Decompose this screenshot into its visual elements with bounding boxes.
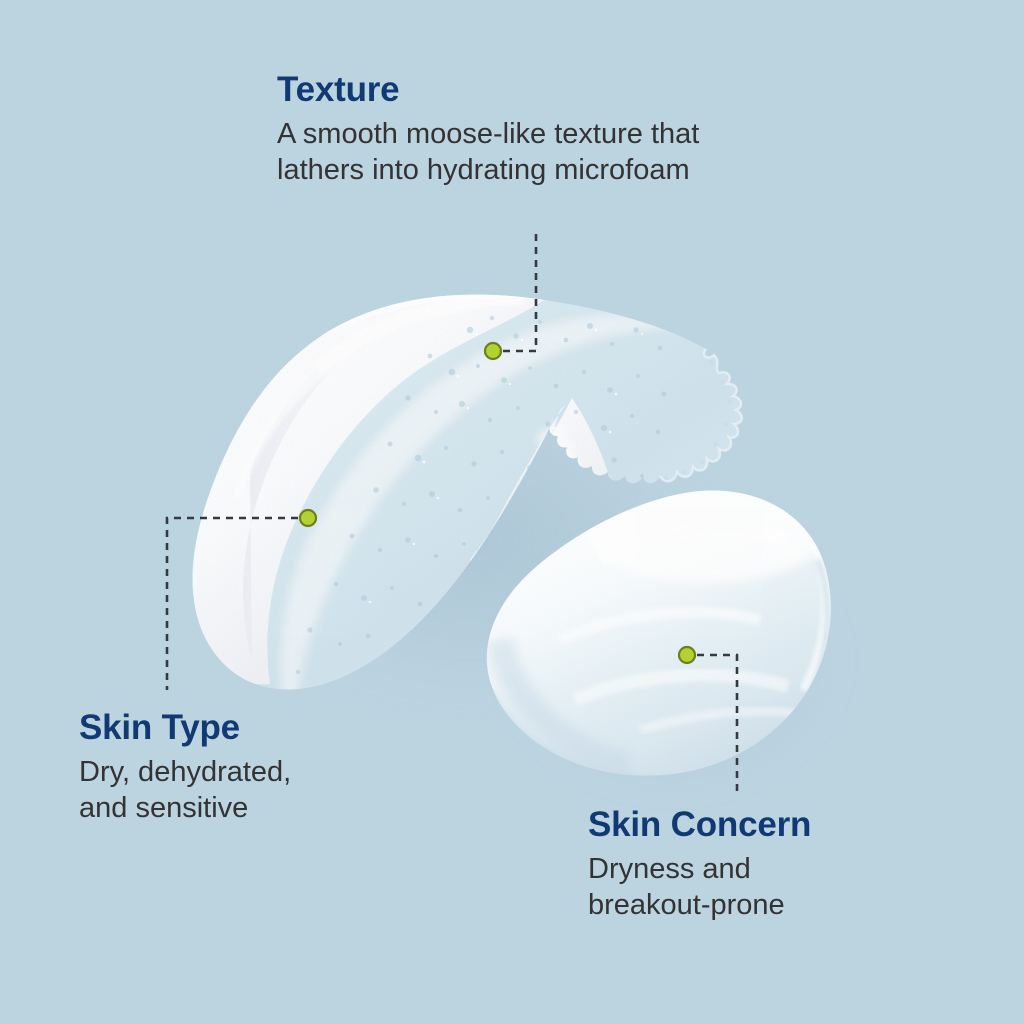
callout-skin-concern-body: Dryness and breakout-prone: [588, 851, 811, 923]
callout-skin-concern: Skin Concern Dryness and breakout-prone: [588, 805, 811, 923]
callout-skin-concern-title: Skin Concern: [588, 805, 811, 845]
infographic-canvas: Texture A smooth moose-like texture that…: [0, 0, 1024, 1024]
callout-skin-type-body: Dry, dehydrated, and sensitive: [79, 754, 291, 826]
callout-skin-type: Skin Type Dry, dehydrated, and sensitive: [79, 708, 291, 826]
callout-texture-title: Texture: [277, 70, 699, 110]
callout-texture: Texture A smooth moose-like texture that…: [277, 70, 699, 188]
callout-texture-body: A smooth moose-like texture that lathers…: [277, 116, 699, 188]
callout-skin-type-title: Skin Type: [79, 708, 291, 748]
